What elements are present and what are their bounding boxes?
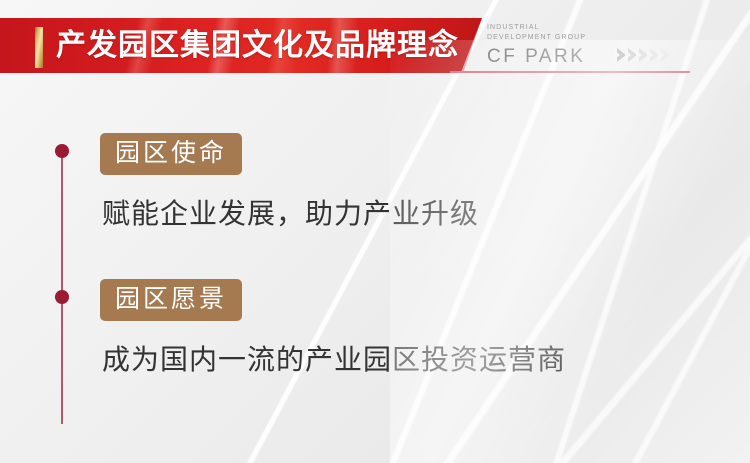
timeline-line	[61, 151, 63, 424]
brand-logo: INDUSTRIAL DEVELOPMENT GROUP CF PARK	[487, 23, 637, 68]
page-title: 产发园区集团文化及品牌理念	[56, 26, 459, 66]
section-body-text: 赋能企业发展，助力产业升级	[102, 195, 479, 233]
chevron-right-icon	[661, 48, 670, 62]
header-divider-rule	[450, 71, 690, 73]
slide-canvas: 产发园区集团文化及品牌理念 INDUSTRIAL DEVELOPMENT GRO…	[0, 0, 750, 463]
content-block: 园区愿景 成为国内一流的产业园区投资运营商	[100, 279, 566, 379]
brand-tagline-line1: INDUSTRIAL	[487, 23, 637, 33]
timeline-dot	[55, 144, 69, 158]
brand-tagline-line2: DEVELOPMENT GROUP	[487, 33, 637, 43]
content-block: 园区使命 赋能企业发展，助力产业升级	[100, 133, 479, 233]
section-badge: 园区愿景	[100, 279, 242, 321]
timeline-dot	[55, 290, 69, 304]
section-body-text: 成为国内一流的产业园区投资运营商	[102, 341, 566, 379]
gold-accent-bar	[35, 27, 43, 68]
chevron-group	[617, 48, 670, 62]
page-header: 产发园区集团文化及品牌理念 INDUSTRIAL DEVELOPMENT GRO…	[0, 0, 750, 95]
section-badge: 园区使命	[100, 133, 242, 175]
